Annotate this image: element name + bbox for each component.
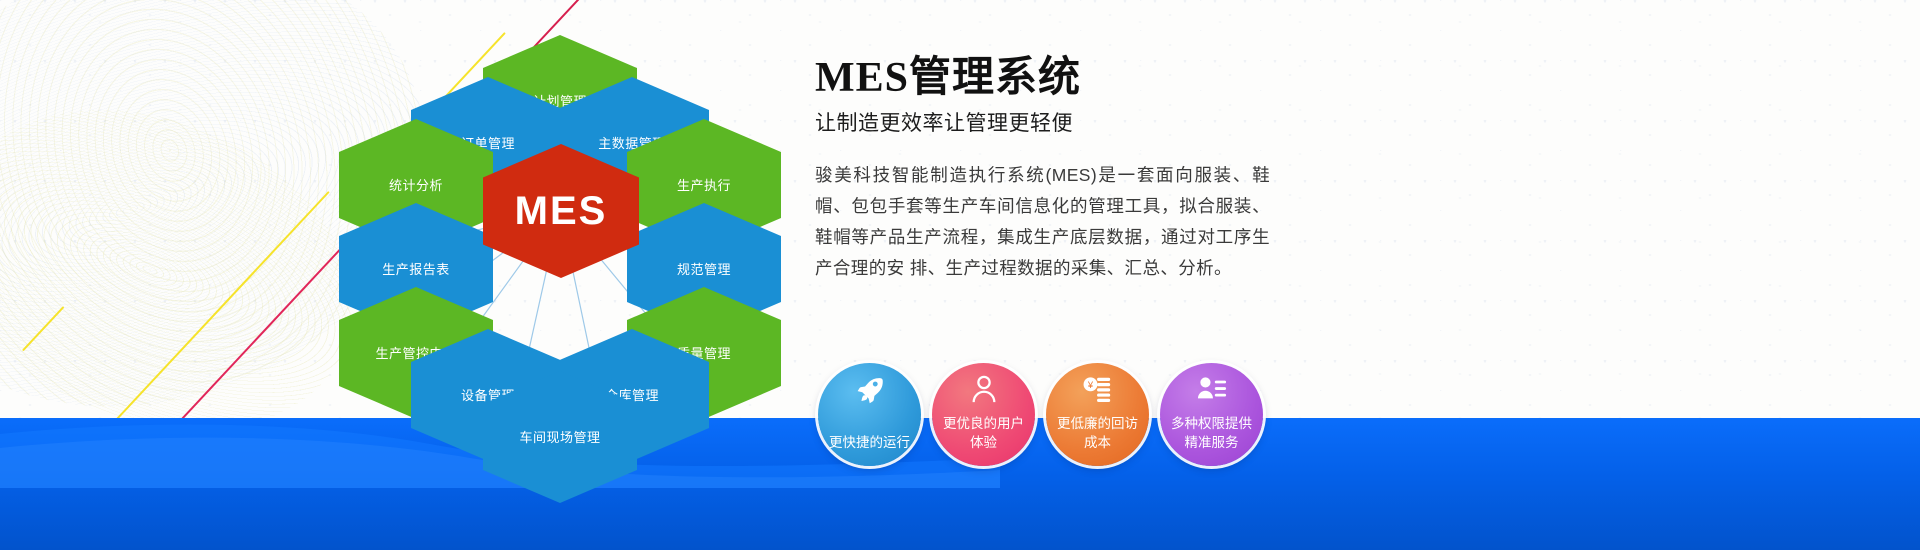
feature-badge-0[interactable]: 更快捷的运行 [818, 363, 921, 466]
feature-badge-label: 更优良的用户体验 [937, 414, 1030, 452]
feature-badge-label: 更快捷的运行 [823, 433, 916, 452]
hex-node-label: 生产执行 [661, 177, 747, 194]
coins-icon: ¥ [1083, 374, 1113, 404]
banner-stage: 计划管理订单管理主数据管理统计分析生产执行生产报告表规范管理生产管控中心质量管理… [0, 0, 1920, 550]
feature-badge-label: 多种权限提供精准服务 [1165, 414, 1258, 452]
user-list-icon [1197, 374, 1227, 404]
feature-badge-list: 更快捷的运行更优良的用户体验¥更低廉的回访成本多种权限提供精准服务 [818, 363, 1263, 466]
banner-description: 骏美科技智能制造执行系统(MES)是一套面向服装、鞋帽、包包手套等生产车间信息化… [815, 160, 1270, 284]
feature-badge-2[interactable]: ¥更低廉的回访成本 [1046, 363, 1149, 466]
page-subtitle: 让制造更效率让管理更轻便 [815, 110, 1455, 138]
user-icon [969, 374, 999, 404]
hex-node-label: 车间现场管理 [517, 429, 603, 446]
svg-text:¥: ¥ [1086, 380, 1093, 390]
banner-text-column: MES管理系统 让制造更效率让管理更轻便 骏美科技智能制造执行系统(MES)是一… [815, 52, 1455, 284]
hex-center-label: MES [515, 203, 608, 220]
page-title: MES管理系统 [815, 52, 1455, 104]
feature-badge-label: 更低廉的回访成本 [1051, 414, 1144, 452]
rocket-icon [855, 374, 885, 404]
feature-badge-1[interactable]: 更优良的用户体验 [932, 363, 1035, 466]
mes-hexagon-diagram: 计划管理订单管理主数据管理统计分析生产执行生产报告表规范管理生产管控中心质量管理… [330, 10, 790, 430]
feature-badge-3[interactable]: 多种权限提供精准服务 [1160, 363, 1263, 466]
hex-node-label: 生产报告表 [373, 261, 459, 278]
hex-node-label: 规范管理 [661, 261, 747, 278]
hex-node-label: 统计分析 [373, 177, 459, 194]
